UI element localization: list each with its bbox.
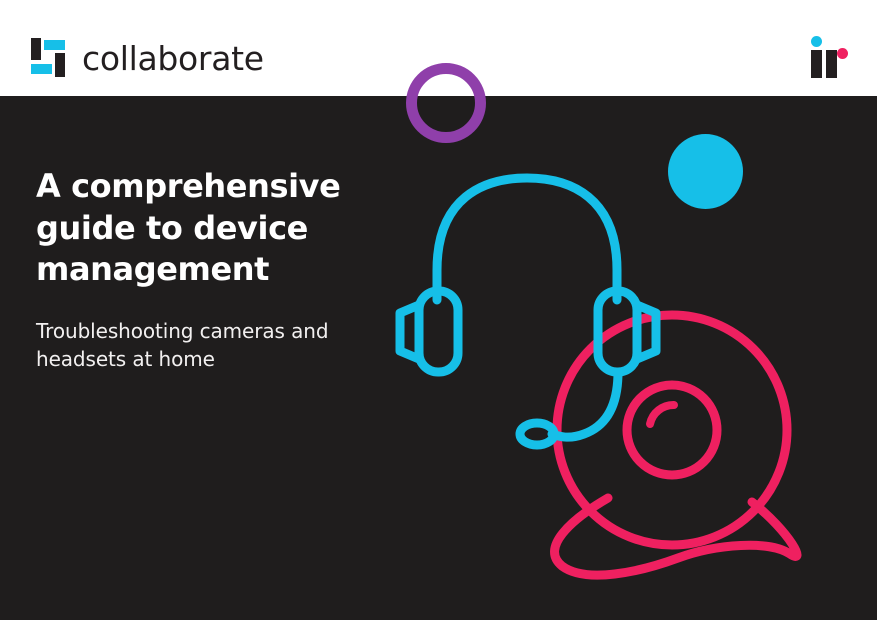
headset-headband <box>437 178 617 300</box>
logo-bar-bottom-right <box>55 53 65 77</box>
webcam-on-stand-illustration <box>555 315 797 575</box>
page-subtitle: Troubleshooting cameras and headsets at … <box>36 317 366 374</box>
page-title: A comprehensive guide to device manageme… <box>36 166 366 291</box>
corner-dot-pink <box>837 48 848 59</box>
webcam-lens-highlight <box>650 405 674 424</box>
brand-wordmark: collaborate <box>82 42 264 75</box>
corner-bar-left <box>811 50 822 78</box>
partner-bars-mark-icon <box>803 36 849 80</box>
collaborate-pinwheel-logo-icon <box>30 38 66 78</box>
hero-text-block: A comprehensive guide to device manageme… <box>36 166 366 374</box>
brand-lockup[interactable]: collaborate <box>30 38 264 78</box>
logo-bar-top-left <box>31 38 41 60</box>
logo-bar-top-right <box>44 40 65 50</box>
headset-with-boom-mic-illustration <box>400 178 656 445</box>
webcam-lens <box>627 385 717 475</box>
purple-ring <box>406 63 486 143</box>
logo-bar-bottom-left <box>31 64 52 74</box>
cyan-filled-circle <box>668 134 743 209</box>
cover-page: collaborate A comprehensive guide to dev… <box>0 0 877 620</box>
corner-bar-right <box>826 50 837 78</box>
corner-dot-cyan <box>811 36 822 47</box>
